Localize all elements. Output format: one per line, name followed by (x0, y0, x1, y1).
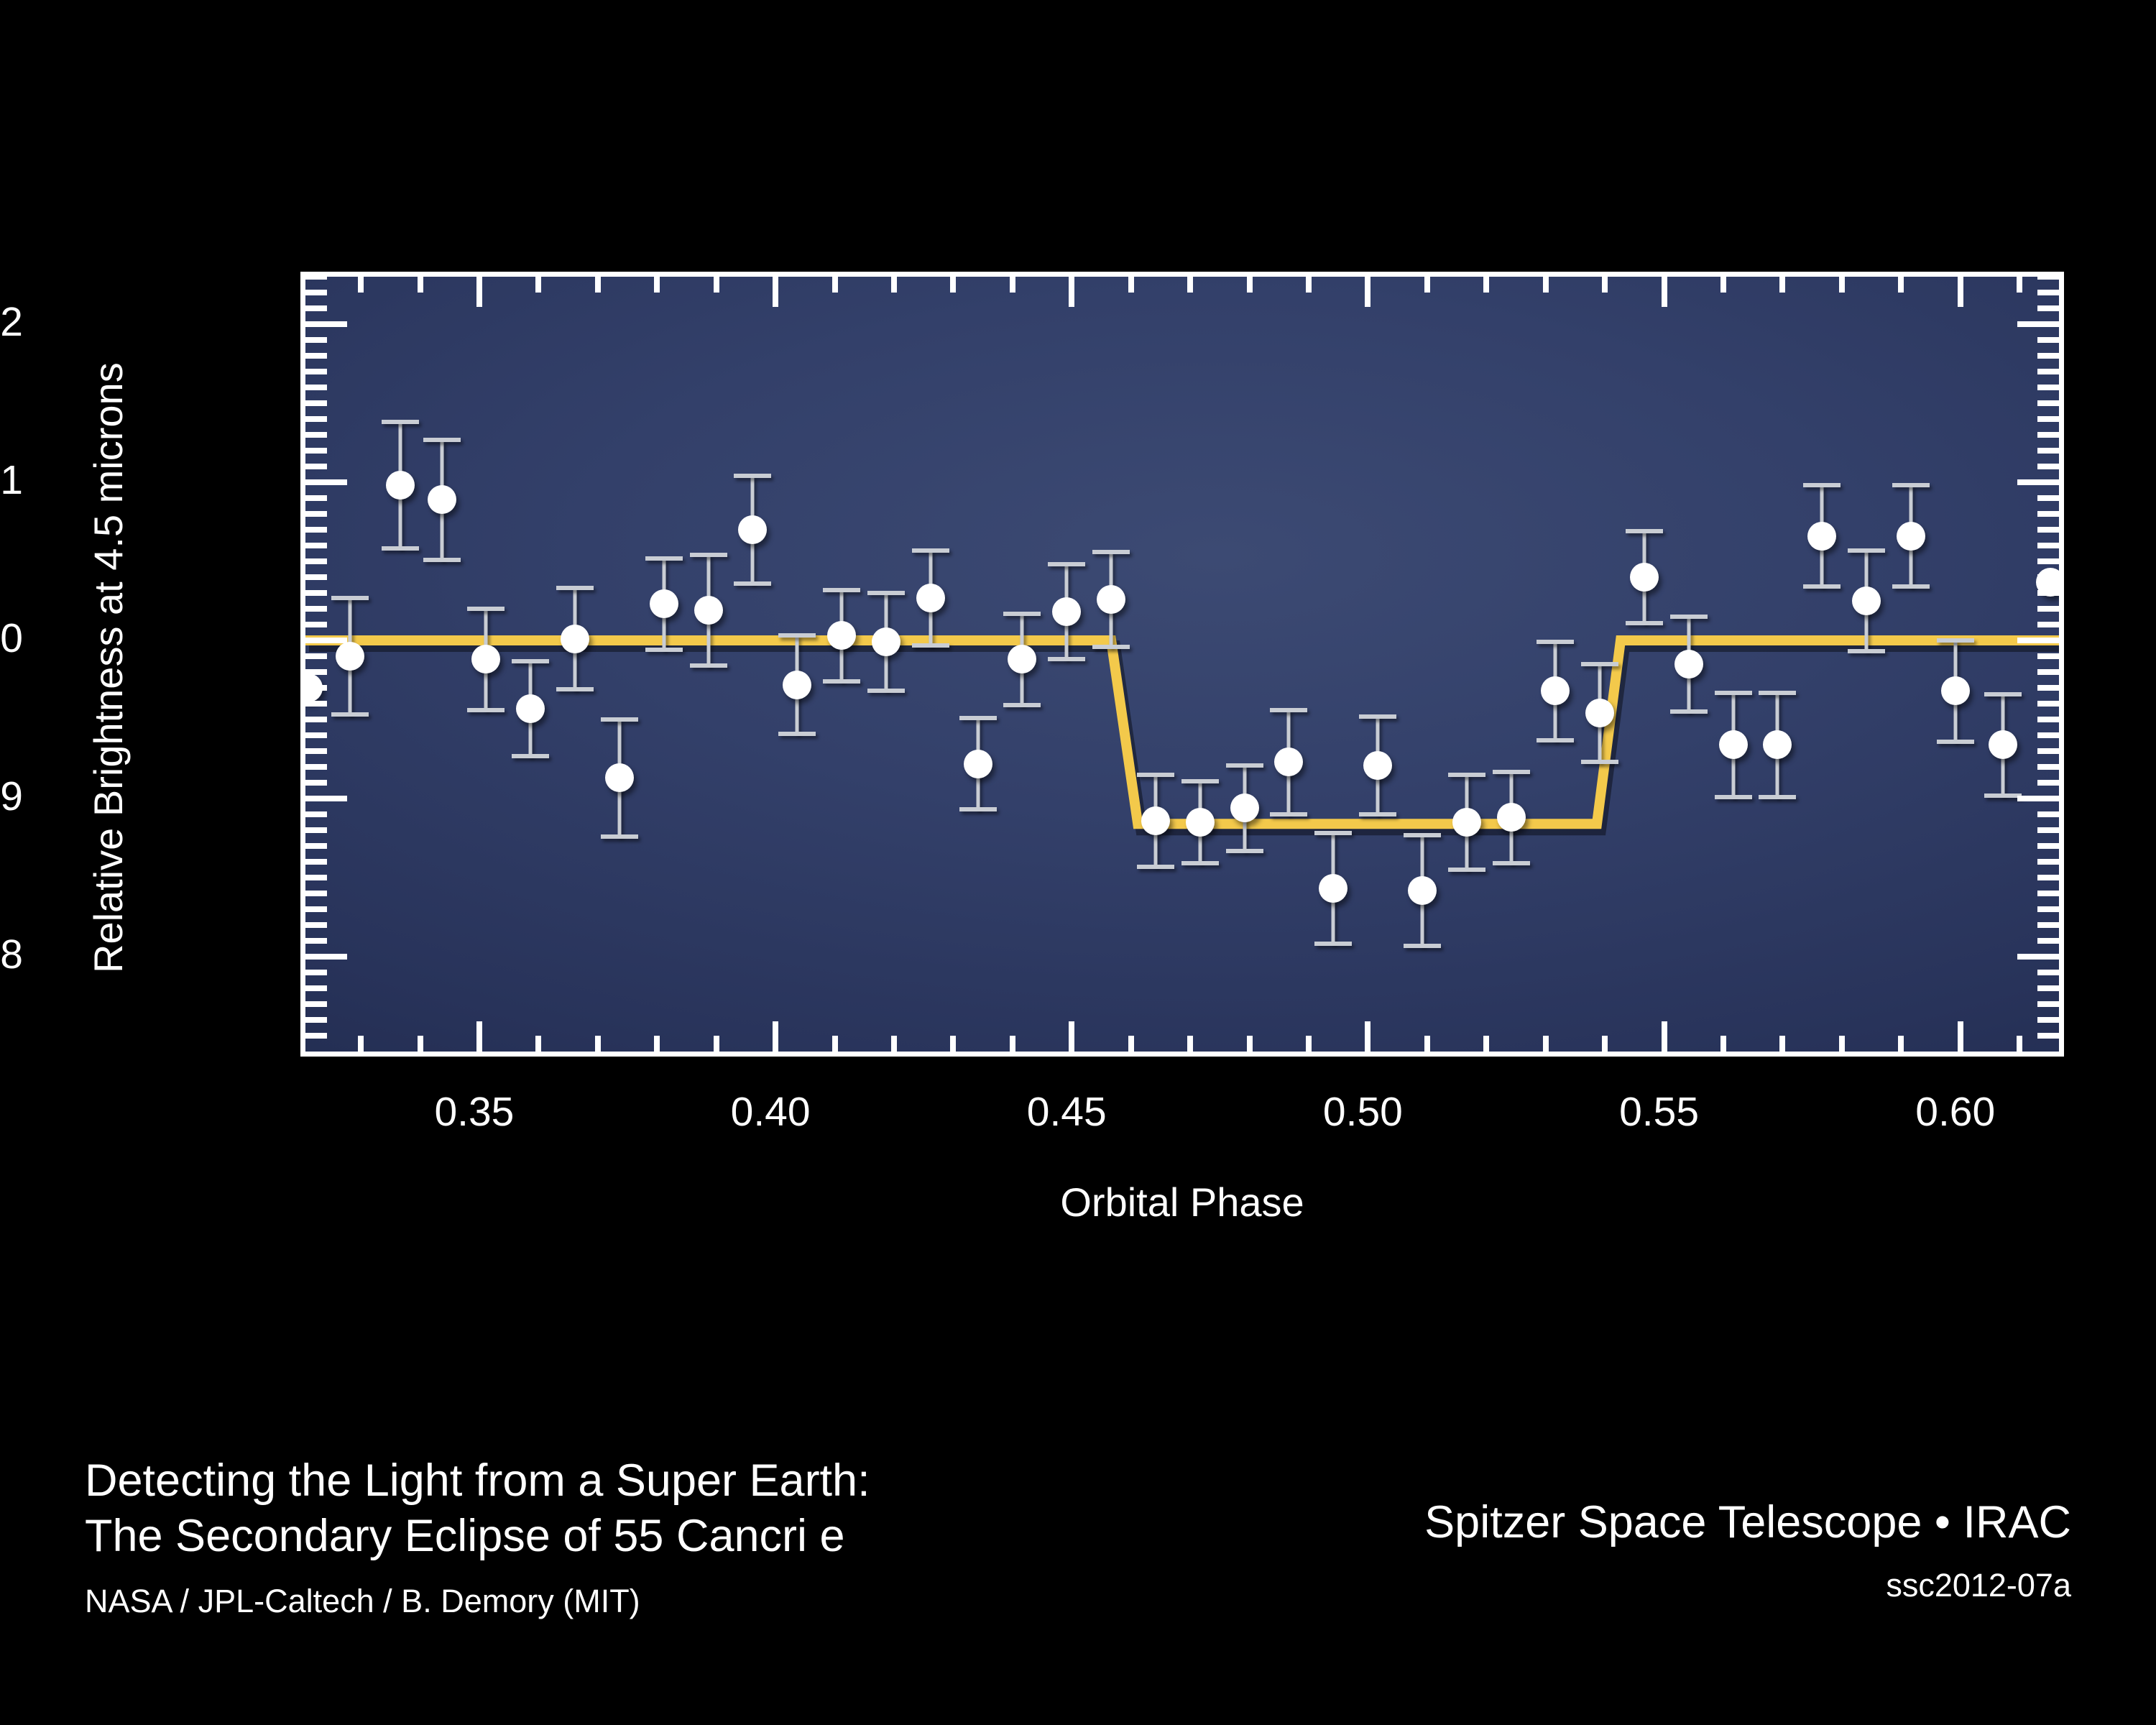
data-point (916, 584, 945, 612)
y-tick-label: 1.0000 (0, 615, 23, 662)
caption-credit: NASA / JPL-Caltech / B. Demory (MIT) (85, 1583, 870, 1620)
error-bar-cap-upper (1670, 615, 1708, 619)
data-point (783, 671, 811, 699)
x-minor-tick (535, 277, 541, 293)
error-bar-cap-upper (823, 588, 860, 592)
error-bar-cap-upper (1984, 692, 2022, 696)
error-bar-cap-lower (959, 807, 997, 811)
x-minor-tick (832, 1036, 838, 1052)
data-point (1274, 747, 1303, 776)
x-tick-label: 0.40 (731, 1088, 811, 1136)
y-minor-tick (2037, 859, 2059, 865)
x-minor-tick (950, 1036, 956, 1052)
error-bar-cap-upper (1404, 833, 1441, 837)
y-minor-tick (2037, 305, 2059, 311)
caption-title-line2: The Secondary Eclipse of 55 Cancri e (85, 1509, 870, 1564)
y-minor-tick (305, 717, 327, 722)
data-point (1452, 808, 1481, 837)
data-point (1541, 676, 1570, 705)
error-bar-cap-upper (1181, 779, 1219, 783)
y-minor-tick (305, 495, 327, 501)
y-minor-tick (2037, 385, 2059, 390)
x-minor-tick (358, 1036, 364, 1052)
data-point (1807, 522, 1836, 551)
x-tick-label: 0.35 (434, 1088, 514, 1136)
error-bar-cap-upper (912, 548, 949, 553)
data-point (561, 625, 589, 653)
y-minor-tick (305, 448, 327, 454)
error-bar-cap-lower (1848, 649, 1885, 653)
x-minor-tick (2017, 1036, 2022, 1052)
x-minor-tick (1424, 1036, 1430, 1052)
y-minor-tick (2037, 669, 2059, 675)
x-major-tick (1365, 1021, 1370, 1052)
error-bar-cap-lower (1892, 584, 1930, 589)
data-point (1852, 586, 1881, 615)
y-minor-tick (2037, 448, 2059, 454)
x-minor-tick (891, 277, 897, 293)
data-point (516, 694, 545, 723)
x-minor-tick (418, 1036, 423, 1052)
data-point (650, 589, 678, 618)
data-point (1319, 874, 1347, 903)
error-bar-cap-upper (423, 438, 461, 442)
error-bar-cap-upper (382, 420, 419, 424)
y-minor-tick (305, 653, 327, 659)
error-bar-cap-lower (601, 834, 638, 839)
y-minor-tick (305, 922, 327, 928)
y-major-tick (2017, 479, 2059, 485)
error-bar-cap-lower (1984, 793, 2022, 798)
y-minor-tick (2037, 653, 2059, 659)
x-minor-tick (1128, 277, 1134, 293)
error-bar-cap-upper (1493, 770, 1530, 774)
y-minor-tick (305, 464, 327, 469)
data-point (1186, 808, 1215, 837)
y-minor-tick (305, 606, 327, 612)
y-minor-tick (2037, 811, 2059, 817)
caption-block-right: Spitzer Space Telescope • IRAC ssc2012-0… (1424, 1496, 2071, 1604)
y-minor-tick (2037, 970, 2059, 975)
y-minor-tick (305, 511, 327, 517)
error-bar-cap-lower (1137, 865, 1174, 869)
y-minor-tick (305, 669, 327, 675)
x-minor-tick (1543, 277, 1549, 293)
x-minor-tick (2017, 277, 2022, 293)
error-bar-cap-lower (1226, 849, 1263, 853)
y-minor-tick (305, 432, 327, 438)
plot-inner (305, 277, 2059, 1052)
plot-area (300, 272, 2064, 1057)
error-bar-cap-lower (734, 581, 771, 586)
y-minor-tick (2037, 369, 2059, 374)
y-tick-label: 0.9998 (0, 931, 23, 978)
y-tick-label: 1.0001 (0, 456, 23, 504)
y-major-tick (305, 796, 347, 801)
y-minor-tick (305, 543, 327, 548)
data-point (471, 645, 500, 673)
y-minor-tick (2037, 827, 2059, 833)
y-minor-tick (2037, 511, 2059, 517)
y-minor-tick (305, 701, 327, 707)
x-minor-tick (595, 1036, 601, 1052)
error-bar-cap-lower (778, 732, 816, 736)
y-minor-tick (2037, 606, 2059, 612)
error-bar-cap-upper (1359, 714, 1396, 719)
error-bar-cap-lower (690, 663, 727, 668)
y-minor-tick (2037, 432, 2059, 438)
x-tick-label: 0.55 (1619, 1088, 1699, 1136)
error-bar-cap-lower (1092, 645, 1130, 649)
y-minor-tick (305, 843, 327, 849)
error-bar-cap-upper (1626, 529, 1663, 533)
caption-title-line1: Detecting the Light from a Super Earth: (85, 1453, 870, 1509)
x-major-tick (476, 277, 482, 307)
caption-block-left: Detecting the Light from a Super Earth: … (85, 1453, 870, 1620)
data-point (738, 515, 767, 544)
data-point (1141, 806, 1170, 835)
x-minor-tick (1720, 277, 1726, 293)
x-minor-tick (595, 277, 601, 293)
x-major-tick (476, 1021, 482, 1052)
error-bar-cap-upper (1581, 662, 1618, 666)
x-minor-tick (1306, 1036, 1312, 1052)
data-point (1674, 650, 1703, 678)
data-point (1363, 751, 1392, 780)
y-major-tick (305, 638, 347, 643)
x-axis-title: Orbital Phase (1060, 1179, 1304, 1225)
data-point (1408, 876, 1437, 905)
y-minor-tick (305, 970, 327, 975)
y-minor-tick (2037, 717, 2059, 722)
y-minor-tick (2037, 985, 2059, 991)
x-tick-label: 0.60 (1915, 1088, 1995, 1136)
data-point (1008, 645, 1036, 673)
x-minor-tick (714, 1036, 719, 1052)
y-minor-tick (2037, 416, 2059, 422)
y-minor-tick (305, 305, 327, 311)
x-minor-tick (1839, 277, 1845, 293)
x-minor-tick (358, 277, 364, 293)
x-minor-tick (1247, 1036, 1253, 1052)
error-bar-cap-upper (1715, 691, 1752, 695)
y-minor-tick (305, 764, 327, 770)
error-bar-cap-lower (1937, 740, 1974, 744)
error-bar-cap-lower (1048, 657, 1085, 661)
x-major-tick (1365, 277, 1370, 307)
data-point (1630, 563, 1659, 592)
y-minor-tick (305, 337, 327, 343)
error-bar-cap-lower (1715, 795, 1752, 799)
y-minor-tick (305, 574, 327, 580)
x-minor-tick (1720, 1036, 1726, 1052)
y-major-tick (305, 321, 347, 327)
x-minor-tick (1187, 1036, 1193, 1052)
error-bar-cap-lower (645, 648, 683, 652)
y-tick-label: 0.9999 (0, 773, 23, 820)
y-minor-tick (2037, 732, 2059, 738)
y-minor-tick (305, 622, 327, 627)
x-minor-tick (1898, 277, 1904, 293)
error-bar-cap-upper (1848, 548, 1885, 553)
error-bar-cap-lower (1803, 584, 1841, 589)
x-minor-tick (1602, 1036, 1608, 1052)
x-minor-tick (1483, 1036, 1489, 1052)
error-bar-cap-lower (467, 708, 505, 712)
error-bar-cap-lower (1581, 760, 1618, 764)
y-minor-tick (2037, 701, 2059, 707)
data-point (1897, 522, 1925, 551)
y-minor-tick (305, 274, 327, 280)
y-minor-tick (305, 1033, 327, 1039)
y-minor-tick (2037, 464, 2059, 469)
y-minor-tick (305, 732, 327, 738)
y-major-tick (2017, 796, 2059, 801)
y-minor-tick (305, 859, 327, 865)
y-minor-tick (305, 685, 327, 691)
y-minor-tick (2037, 1033, 2059, 1039)
y-minor-tick (2037, 353, 2059, 359)
x-minor-tick (1839, 1036, 1845, 1052)
data-point (1585, 699, 1614, 727)
y-major-tick (2017, 321, 2059, 327)
x-minor-tick (1779, 1036, 1785, 1052)
error-bar-cap-lower (1759, 795, 1796, 799)
error-bar-cap-lower (1270, 812, 1307, 816)
y-minor-tick (305, 590, 327, 596)
y-minor-tick (2037, 748, 2059, 754)
error-bar-cap-upper (1270, 708, 1307, 712)
error-bar-cap-upper (1226, 763, 1263, 768)
error-bar-cap-lower (1626, 621, 1663, 625)
x-minor-tick (535, 1036, 541, 1052)
y-tick-label: 1.0002 (0, 298, 23, 346)
y-minor-tick (2037, 685, 2059, 691)
error-bar-cap-upper (1003, 612, 1041, 616)
y-minor-tick (305, 827, 327, 833)
x-major-tick (1662, 1021, 1667, 1052)
error-bar-cap-upper (959, 716, 997, 720)
x-minor-tick (1010, 1036, 1015, 1052)
y-minor-tick (305, 938, 327, 944)
error-bar-cap-upper (1759, 691, 1796, 695)
x-major-tick (1069, 1021, 1074, 1052)
y-minor-tick (305, 558, 327, 564)
y-minor-tick (305, 748, 327, 754)
x-minor-tick (1187, 277, 1193, 293)
y-minor-tick (2037, 574, 2059, 580)
error-bar-cap-lower (423, 558, 461, 562)
figure-canvas: Relative Brightness at 4.5 microns 1.000… (0, 0, 2156, 1725)
error-bar-cap-lower (912, 643, 949, 648)
x-minor-tick (950, 277, 956, 293)
y-minor-tick (305, 891, 327, 896)
error-bar-cap-upper (512, 659, 549, 663)
y-axis-title: Relative Brightness at 4.5 microns (85, 362, 132, 973)
y-minor-tick (2037, 1001, 2059, 1007)
y-minor-tick (2037, 290, 2059, 295)
y-minor-tick (305, 875, 327, 880)
y-minor-tick (2037, 891, 2059, 896)
error-bar-cap-lower (1670, 709, 1708, 714)
data-point (1719, 730, 1748, 759)
x-minor-tick (714, 277, 719, 293)
error-bar-cap-upper (1314, 831, 1352, 835)
data-point (386, 471, 415, 500)
y-minor-tick (2037, 274, 2059, 280)
error-bar-cap-lower (1537, 738, 1574, 742)
error-bar-cap-upper (1937, 638, 1974, 643)
y-minor-tick (2037, 1017, 2059, 1023)
y-minor-tick (305, 385, 327, 390)
y-minor-tick (305, 369, 327, 374)
release-id-label: ssc2012-07a (1424, 1567, 2071, 1604)
y-minor-tick (305, 985, 327, 991)
error-bar-cap-lower (331, 712, 369, 717)
data-point (336, 642, 364, 671)
data-point (1941, 676, 1970, 705)
x-minor-tick (1602, 277, 1608, 293)
y-major-tick (305, 954, 347, 960)
x-minor-tick (1779, 277, 1785, 293)
x-minor-tick (1247, 277, 1253, 293)
y-major-tick (2017, 638, 2059, 643)
y-major-tick (305, 479, 347, 485)
y-minor-tick (2037, 590, 2059, 596)
y-minor-tick (2037, 875, 2059, 880)
x-major-tick (1958, 277, 1963, 307)
y-minor-tick (305, 416, 327, 422)
error-bar-cap-lower (1359, 812, 1396, 816)
x-minor-tick (654, 277, 660, 293)
error-bar-cap-lower (1003, 703, 1041, 707)
x-major-tick (773, 1021, 778, 1052)
error-bar-cap-upper (1537, 640, 1574, 644)
data-point (1763, 730, 1792, 759)
x-minor-tick (832, 277, 838, 293)
error-bar-cap-upper (1448, 773, 1485, 777)
x-minor-tick (1483, 277, 1489, 293)
y-minor-tick (2037, 843, 2059, 849)
error-bar-cap-lower (556, 687, 594, 691)
x-minor-tick (1306, 277, 1312, 293)
data-point (1989, 730, 2017, 759)
y-minor-tick (2037, 780, 2059, 786)
y-minor-tick (305, 353, 327, 359)
x-minor-tick (654, 1036, 660, 1052)
error-bar-cap-lower (1493, 861, 1530, 865)
x-tick-label: 0.50 (1323, 1088, 1403, 1136)
y-minor-tick (2037, 495, 2059, 501)
error-bar-cap-upper (734, 474, 771, 478)
error-bar-cap-upper (867, 591, 905, 595)
x-major-tick (1958, 1021, 1963, 1052)
y-minor-tick (2037, 527, 2059, 533)
x-minor-tick (1543, 1036, 1549, 1052)
data-point (827, 621, 856, 650)
data-point (872, 627, 900, 656)
y-minor-tick (305, 400, 327, 406)
y-minor-tick (305, 906, 327, 912)
error-bar-cap-upper (331, 596, 369, 600)
y-minor-tick (2037, 558, 2059, 564)
x-minor-tick (1010, 277, 1015, 293)
y-minor-tick (2037, 764, 2059, 770)
error-bar-cap-upper (1803, 483, 1841, 487)
y-minor-tick (2037, 337, 2059, 343)
x-major-tick (773, 277, 778, 307)
error-bar-cap-lower (1404, 944, 1441, 948)
data-point (428, 485, 456, 514)
error-bar-cap-lower (1448, 868, 1485, 872)
error-bar-cap-lower (867, 689, 905, 693)
y-minor-tick (2037, 622, 2059, 627)
error-bar-cap-upper (601, 717, 638, 722)
error-bar-cap-upper (1092, 550, 1130, 554)
x-minor-tick (891, 1036, 897, 1052)
x-major-tick (1069, 277, 1074, 307)
x-minor-tick (1898, 1036, 1904, 1052)
x-minor-tick (1128, 1036, 1134, 1052)
data-point (1230, 793, 1259, 822)
error-bar-cap-lower (1181, 861, 1219, 865)
error-bar-cap-lower (823, 679, 860, 684)
error-bar-cap-lower (512, 754, 549, 758)
data-point (1052, 597, 1081, 626)
data-point (1097, 585, 1125, 614)
error-bar-cap-upper (778, 633, 816, 638)
y-minor-tick (305, 290, 327, 295)
y-minor-tick (305, 811, 327, 817)
y-minor-tick (305, 780, 327, 786)
error-bar-cap-upper (1048, 562, 1085, 566)
observatory-instrument-label: Spitzer Space Telescope • IRAC (1424, 1496, 2071, 1548)
x-major-tick (1662, 277, 1667, 307)
data-point (605, 763, 634, 792)
error-bar-cap-upper (645, 556, 683, 561)
error-bar-cap-upper (690, 553, 727, 557)
error-bar-cap-upper (556, 586, 594, 590)
y-major-tick (2017, 954, 2059, 960)
y-minor-tick (305, 1001, 327, 1007)
y-minor-tick (2037, 400, 2059, 406)
error-bar-cap-lower (382, 546, 419, 551)
error-bar-cap-lower (1314, 942, 1352, 946)
y-minor-tick (305, 527, 327, 533)
y-minor-tick (2037, 543, 2059, 548)
data-point (694, 596, 723, 625)
y-minor-tick (2037, 906, 2059, 912)
data-point (964, 750, 992, 778)
y-minor-tick (2037, 922, 2059, 928)
eclipse-model-curve (305, 277, 2059, 1052)
error-bar-cap-upper (467, 607, 505, 611)
error-bar-cap-upper (1137, 773, 1174, 777)
y-minor-tick (305, 1017, 327, 1023)
x-minor-tick (1424, 277, 1430, 293)
y-minor-tick (2037, 938, 2059, 944)
x-minor-tick (418, 277, 423, 293)
data-point (1497, 803, 1526, 832)
error-bar-cap-upper (1892, 483, 1930, 487)
x-tick-label: 0.45 (1027, 1088, 1107, 1136)
